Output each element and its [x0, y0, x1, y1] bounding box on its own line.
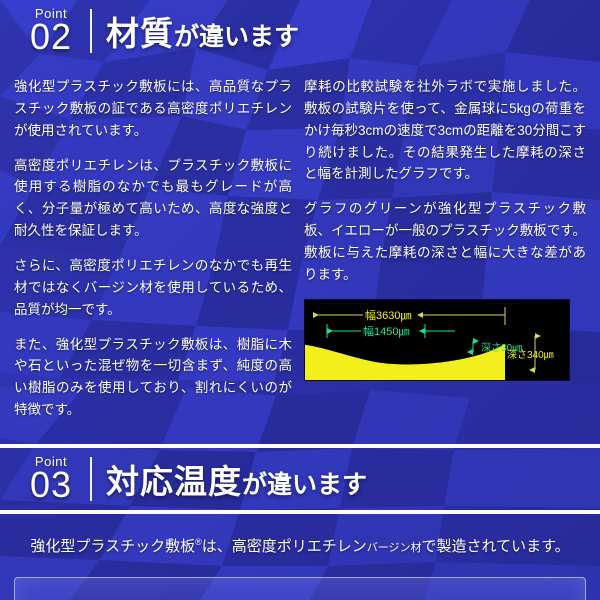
statement-part-2: は、高密度ポリエチレン	[202, 538, 367, 555]
section-point-02: Point 02 材質が違います 強化型プラスチック敷板には、高品質なプラスチッ…	[0, 0, 600, 434]
section-point-03: Point 03 対応温度が違います 強化型プラスチック敷板®は、高密度ポリエチ…	[0, 448, 600, 600]
point-02-title: 材質が違います	[106, 7, 299, 55]
point-03-statement: 強化型プラスチック敷板®は、高密度ポリエチレンバージン材で製造されています。	[0, 514, 600, 569]
temperature-callout-box: そのため、マイナス30℃からプラス60℃の外気温に適用しています。	[14, 577, 586, 600]
paragraph-right-1: 摩耗の比較試験を社外ラボで実施しました。敷板の試験片を使って、金属球に5kgの荷…	[304, 76, 586, 185]
point-03-number-block: Point 03	[14, 455, 88, 503]
point-02-body: 強化型プラスチック敷板には、高品質なプラスチック敷板の証である高密度ポリエチレン…	[0, 62, 600, 434]
point-02-left-column: 強化型プラスチック敷板には、高品質なプラスチック敷板の証である高密度ポリエチレン…	[0, 76, 300, 434]
point-02-divider	[90, 9, 92, 53]
point-03-title: 対応温度が違います	[106, 455, 367, 503]
paragraph-right-2: グラフのグリーンが強化型プラスチック敷板、イエローが一般のプラスチック敷板です。…	[304, 198, 586, 285]
point-02-title-suffix: が違います	[174, 23, 299, 51]
statement-virgin-material: バージン材	[367, 542, 422, 554]
point-02-title-main: 材質	[106, 15, 174, 52]
statement-part-3: で製造されています。	[422, 538, 570, 555]
label-depth-340: 深さ340㎛	[507, 349, 554, 361]
wear-test-graph-wrapper: 幅3630㎛ 幅1450㎛ 深さ30㎛	[304, 299, 586, 381]
paragraph-left-1: 強化型プラスチック敷板には、高品質なプラスチック敷板の証である高密度ポリエチレン…	[14, 76, 292, 142]
point-02-right-column: 摩耗の比較試験を社外ラボで実施しました。敷板の試験片を使って、金属球に5kgの荷…	[300, 76, 600, 434]
point-02-number-block: Point 02	[14, 7, 88, 55]
point-03-digits: 03	[30, 467, 72, 503]
point-03-title-suffix: が違います	[242, 471, 367, 499]
label-width-3630: 幅3630㎛	[365, 309, 411, 322]
label-width-1450: 幅1450㎛	[363, 325, 409, 338]
section-divider-1	[0, 444, 600, 448]
statement-part-1: 強化型プラスチック敷板	[30, 538, 195, 555]
wear-test-graph: 幅3630㎛ 幅1450㎛ 深さ30㎛	[304, 299, 570, 381]
point-03-divider	[90, 457, 92, 501]
section-divider-2	[0, 510, 600, 514]
paragraph-left-2: 高密度ポリエチレンは、プラスチック敷板に使用する樹脂のなかでも最もグレードが高く…	[14, 155, 292, 242]
paragraph-left-4: また、強化型プラスチック敷板は、樹脂に木や石といった混ぜ物を一切含まず、純度の高…	[14, 334, 292, 421]
paragraph-left-3: さらに、高密度ポリエチレンのなかでも再生材ではなくバージン材を使用しているため、…	[14, 255, 292, 321]
point-02-header: Point 02 材質が違います	[0, 0, 600, 62]
point-02-digits: 02	[30, 19, 72, 55]
registered-mark: ®	[195, 537, 202, 547]
point-03-header: Point 03 対応温度が違います	[0, 448, 600, 510]
product-feature-page: Point 02 材質が違います 強化型プラスチック敷板には、高品質なプラスチッ…	[0, 0, 600, 600]
point-03-title-main: 対応温度	[106, 463, 242, 500]
